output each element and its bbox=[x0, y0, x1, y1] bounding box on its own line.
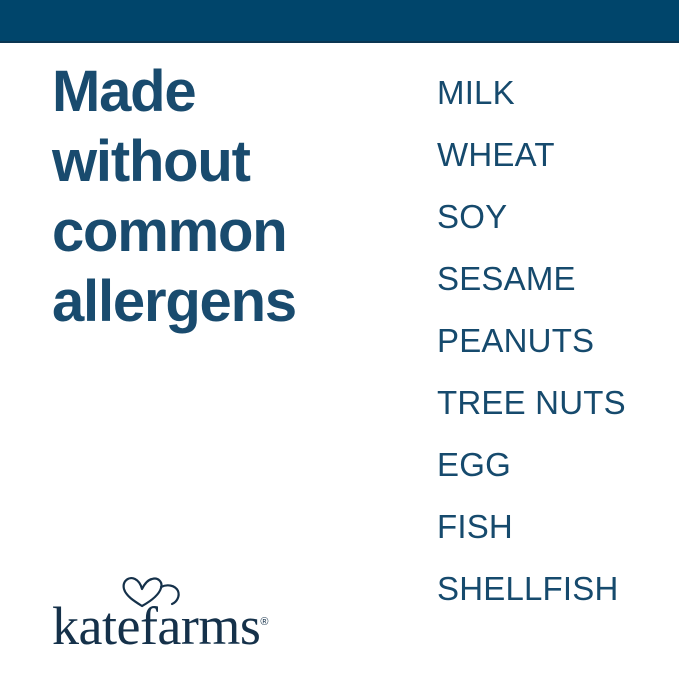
logo-wordmark-text: katefarms bbox=[52, 596, 260, 656]
list-item: EGG bbox=[437, 445, 626, 507]
list-item: SHELLFISH bbox=[437, 569, 626, 631]
list-item: WHEAT bbox=[437, 135, 626, 197]
list-item: SOY bbox=[437, 197, 626, 259]
allergen-list: MILK WHEAT SOY SESAME PEANUTS TREE NUTS … bbox=[437, 73, 626, 631]
left-column: Made without common allergens katefarms® bbox=[52, 43, 392, 679]
list-item: SESAME bbox=[437, 259, 626, 321]
list-item: TREE NUTS bbox=[437, 383, 626, 445]
headline-line-3: common bbox=[52, 197, 392, 267]
list-item: PEANUTS bbox=[437, 321, 626, 383]
brand-logo: katefarms® bbox=[52, 575, 282, 641]
right-column: MILK WHEAT SOY SESAME PEANUTS TREE NUTS … bbox=[437, 43, 667, 679]
logo-wordmark: katefarms® bbox=[52, 595, 269, 653]
top-navy-band bbox=[0, 0, 679, 43]
registered-trademark-mark: ® bbox=[260, 616, 268, 628]
headline-line-4: allergens bbox=[52, 267, 392, 337]
card-content: Made without common allergens katefarms®… bbox=[0, 43, 679, 679]
headline-line-2: without bbox=[52, 127, 392, 197]
page-title: Made without common allergens bbox=[52, 57, 392, 337]
list-item: FISH bbox=[437, 507, 626, 569]
list-item: MILK bbox=[437, 73, 626, 135]
headline-line-1: Made bbox=[52, 57, 392, 127]
promo-card: Made without common allergens katefarms®… bbox=[0, 0, 679, 679]
